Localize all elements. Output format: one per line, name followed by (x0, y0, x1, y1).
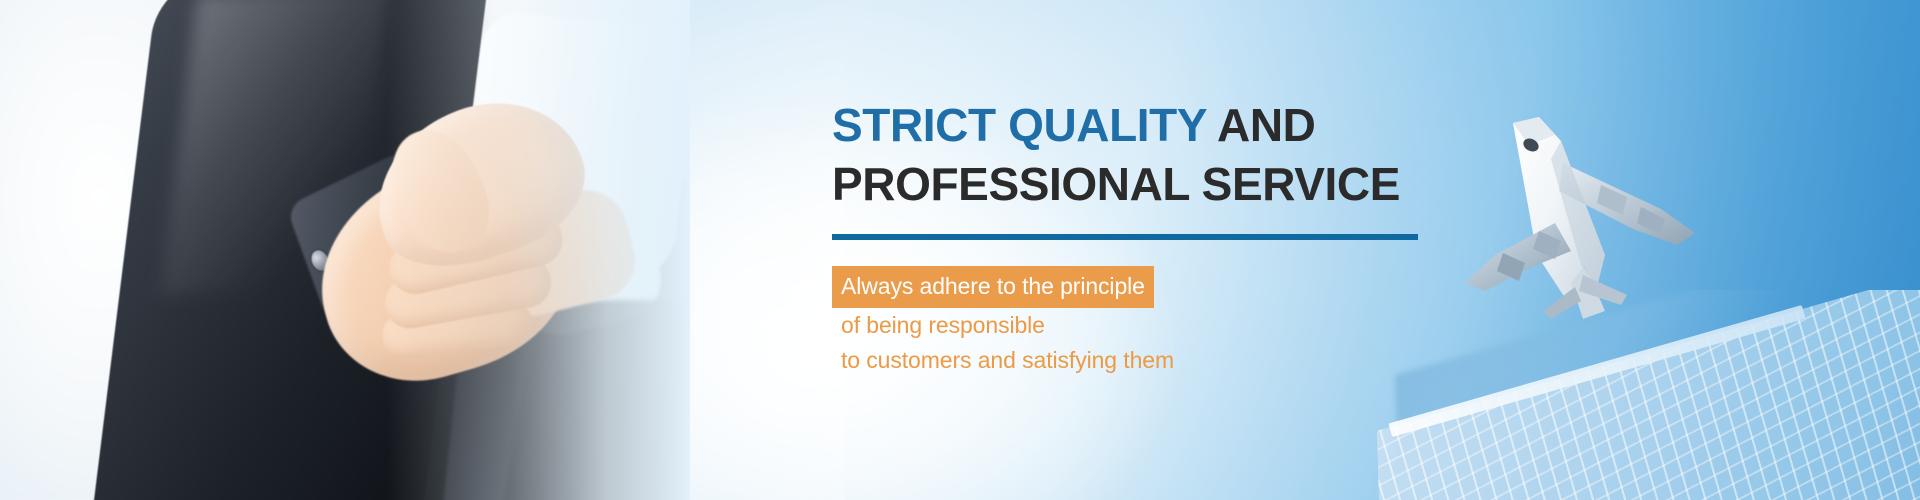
headline-line2: PROFESSIONAL SERVICE (832, 158, 1400, 210)
photo-fade-overlay (0, 0, 690, 500)
headline-divider (832, 234, 1418, 240)
banner-content: STRICT QUALITY AND PROFESSIONAL SERVICE … (832, 96, 1472, 378)
subtitle-line-3: to customers and satisfying them (832, 343, 1472, 378)
headline-line1-rest: AND (1206, 99, 1315, 151)
subtitle-line-2: of being responsible (832, 308, 1472, 343)
subtitle-line-1-wrapper: Always adhere to the principle (832, 266, 1472, 308)
headline-highlight: STRICT QUALITY (832, 99, 1206, 151)
banner-headline: STRICT QUALITY AND PROFESSIONAL SERVICE (832, 96, 1472, 214)
subtitle-line-1: Always adhere to the principle (832, 266, 1154, 308)
promo-banner: STRICT QUALITY AND PROFESSIONAL SERVICE … (0, 0, 1920, 500)
handshake-photo (0, 0, 690, 500)
banner-subtitle: Always adhere to the principle of being … (832, 266, 1472, 378)
